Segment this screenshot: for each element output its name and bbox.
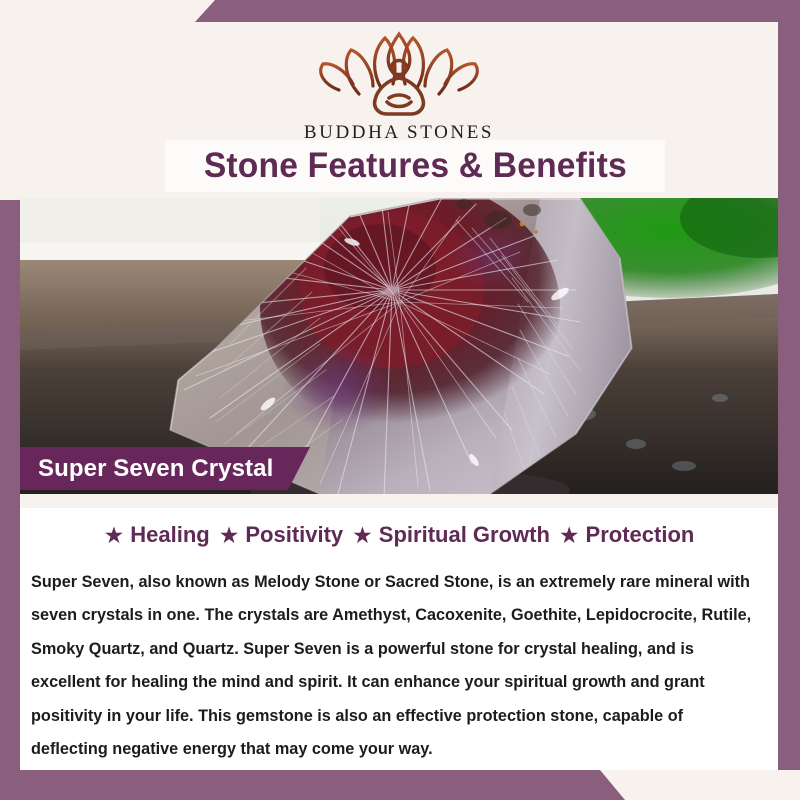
cream-divider bbox=[20, 494, 778, 508]
frame-top-bar bbox=[0, 0, 800, 22]
title-banner: Stone Features & Benefits bbox=[165, 140, 665, 192]
benefit-label: Spiritual Growth bbox=[379, 522, 550, 548]
benefit-label: Positivity bbox=[245, 522, 343, 548]
star-icon: ★ bbox=[352, 524, 373, 547]
star-icon: ★ bbox=[559, 524, 580, 547]
frame-left-bar bbox=[0, 200, 20, 800]
benefit-item-healing: ★ Healing bbox=[104, 522, 210, 548]
brand-logo: BUDDHA STONES bbox=[20, 28, 778, 144]
page-title: Stone Features & Benefits bbox=[203, 146, 626, 186]
benefit-label: Healing bbox=[130, 522, 209, 548]
benefit-item-protection: ★ Protection bbox=[559, 522, 694, 548]
lotus-meditation-icon bbox=[309, 28, 489, 120]
poster: BUDDHA STONES Stone Features & Benefits bbox=[0, 0, 800, 800]
frame-bottom-bar bbox=[0, 770, 800, 800]
photo-caption-text: Super Seven Crystal bbox=[20, 455, 273, 483]
benefits-row: ★ Healing ★ Positivity ★ Spiritual Growt… bbox=[20, 522, 778, 548]
star-icon: ★ bbox=[219, 524, 240, 547]
benefit-item-positivity: ★ Positivity bbox=[219, 522, 343, 548]
description-paragraph: Super Seven, also known as Melody Stone … bbox=[31, 566, 760, 767]
photo-caption-banner: Super Seven Crystal bbox=[20, 447, 310, 490]
star-icon: ★ bbox=[104, 524, 125, 547]
benefit-item-spiritual-growth: ★ Spiritual Growth bbox=[352, 522, 550, 548]
benefit-label: Protection bbox=[586, 522, 695, 548]
frame-right-bar bbox=[778, 0, 800, 800]
content-panel: ★ Healing ★ Positivity ★ Spiritual Growt… bbox=[20, 508, 778, 770]
